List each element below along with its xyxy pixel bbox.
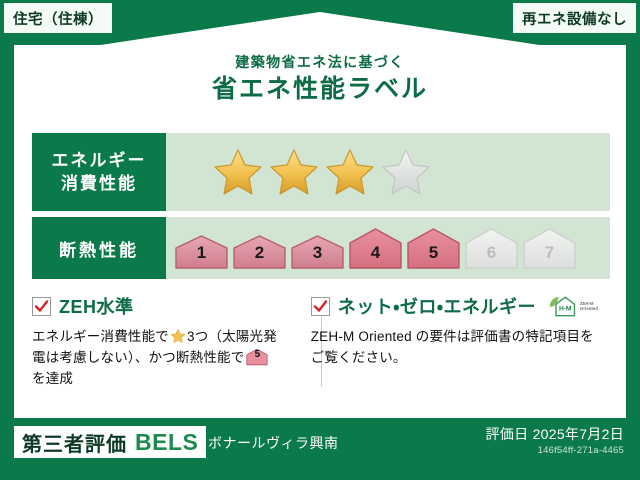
renewable-equipment-tag: 再エネ設備なし: [513, 3, 636, 33]
zeh-body-part1: エネルギー消費性能で: [32, 329, 169, 344]
net-zero-energy-body: ZEH-M Oriented の要件は評価書の特記項目をご覧ください。: [311, 326, 598, 368]
star-rating: [212, 146, 432, 198]
insulation-performance-row: 断熱性能 1: [32, 217, 610, 279]
inline-grade-value: 5: [246, 344, 268, 365]
zeh-m-house-icon: H-M: [548, 294, 578, 318]
insulation-grade-value: 4: [348, 243, 403, 263]
title-block: 建築物省エネ法に基づく 省エネ性能ラベル: [14, 53, 626, 105]
insulation-grade-value: 7: [522, 243, 577, 263]
zeh-m-logo-caption: ZEH-M Oriented: [580, 301, 598, 311]
insulation-grade-badge: 7: [522, 227, 577, 270]
net-zero-energy-checkbox[interactable]: [311, 297, 330, 316]
bels-badge: 第三者評価 BELS: [14, 426, 206, 458]
zeh-m-logo-text: H-M: [559, 305, 572, 312]
insulation-grade-badge: 5: [406, 227, 461, 270]
zeh-standard-checkbox[interactable]: [32, 297, 51, 316]
insulation-grade-value: 6: [464, 243, 519, 263]
insulation-grade-badge: 6: [464, 227, 519, 270]
insulation-rating-value: 1 2 3: [166, 217, 610, 279]
evaluation-date: 評価日 2025年7月2日: [485, 424, 624, 444]
inline-grade-badge: 5: [246, 348, 268, 366]
building-type-tag: 住宅（住棟）: [4, 3, 112, 33]
bels-en-label: BELS: [135, 429, 198, 456]
energy-label-line1: エネルギー: [52, 149, 147, 172]
star-icon-filled: [212, 146, 264, 198]
energy-performance-row: エネルギー 消費性能: [32, 133, 610, 211]
insulation-grade-badge: 3: [290, 234, 345, 270]
zeh-section: ZEH水準 エネルギー消費性能で3つ（太陽光発電は考慮しない）、かつ断熱性能で5…: [32, 293, 610, 393]
energy-rating-value: [166, 133, 610, 211]
insulation-label-line1: 断熱性能: [59, 236, 139, 261]
check-icon: [34, 299, 49, 314]
check-icon: [313, 299, 328, 314]
insulation-grade-value: 5: [406, 243, 461, 263]
star-icon-empty: [380, 146, 432, 198]
insulation-grade-value: 2: [232, 243, 287, 263]
net-zero-energy-title: ネット・ゼロ・エネルギー: [338, 293, 536, 319]
zeh-standard-block: ZEH水準 エネルギー消費性能で3つ（太陽光発電は考慮しない）、かつ断熱性能で5…: [32, 293, 293, 393]
insulation-grade-scale: 1 2 3: [174, 227, 577, 270]
evaluation-id: 146f54ff-271a-4465: [538, 445, 624, 456]
star-icon-filled: [324, 146, 376, 198]
insulation-grade-badge: 1: [174, 234, 229, 270]
ratings-section: エネルギー 消費性能: [32, 133, 610, 285]
inline-star-icon: [170, 328, 186, 344]
energy-label-line2: 消費性能: [61, 172, 137, 195]
page-title: 省エネ性能ラベル: [14, 73, 626, 105]
bels-jp-label: 第三者評価: [22, 428, 127, 457]
insulation-grade-value: 3: [290, 243, 345, 263]
zeh-standard-header: ZEH水準: [32, 293, 281, 319]
star-icon-filled: [268, 146, 320, 198]
insulation-grade-value: 1: [174, 243, 229, 263]
label-card: 建築物省エネ法に基づく 省エネ性能ラベル エネルギー 消費性能: [14, 45, 626, 418]
net-zero-energy-block: ネット・ゼロ・エネルギー H-M ZEH-M Oriented ZEH-M: [293, 293, 610, 393]
energy-performance-label-box: エネルギー 消費性能: [32, 133, 166, 211]
energy-performance-label: 住宅（住棟） 再エネ設備なし 建築物省エネ法に基づく 省エネ性能ラベル エネルギ…: [0, 0, 640, 480]
footer: 第三者評価 BELS ボナールヴィラ興南 評価日 2025年7月2日 146f5…: [0, 418, 640, 480]
zeh-standard-body: エネルギー消費性能で3つ（太陽光発電は考慮しない）、かつ断熱性能で5を達成: [32, 326, 281, 389]
insulation-performance-label-box: 断熱性能: [32, 217, 166, 279]
zeh-m-logo: H-M ZEH-M Oriented: [548, 294, 598, 318]
building-name: ボナールヴィラ興南: [208, 433, 339, 453]
zeh-body-part3: を達成: [32, 371, 73, 386]
zeh-m-caption-line2: Oriented: [580, 306, 598, 311]
title-subtitle: 建築物省エネ法に基づく: [14, 53, 626, 71]
net-zero-energy-header: ネット・ゼロ・エネルギー H-M ZEH-M Oriented: [311, 293, 598, 319]
insulation-grade-badge: 4: [348, 227, 403, 270]
zeh-standard-title: ZEH水準: [59, 293, 134, 319]
insulation-grade-badge: 2: [232, 234, 287, 270]
